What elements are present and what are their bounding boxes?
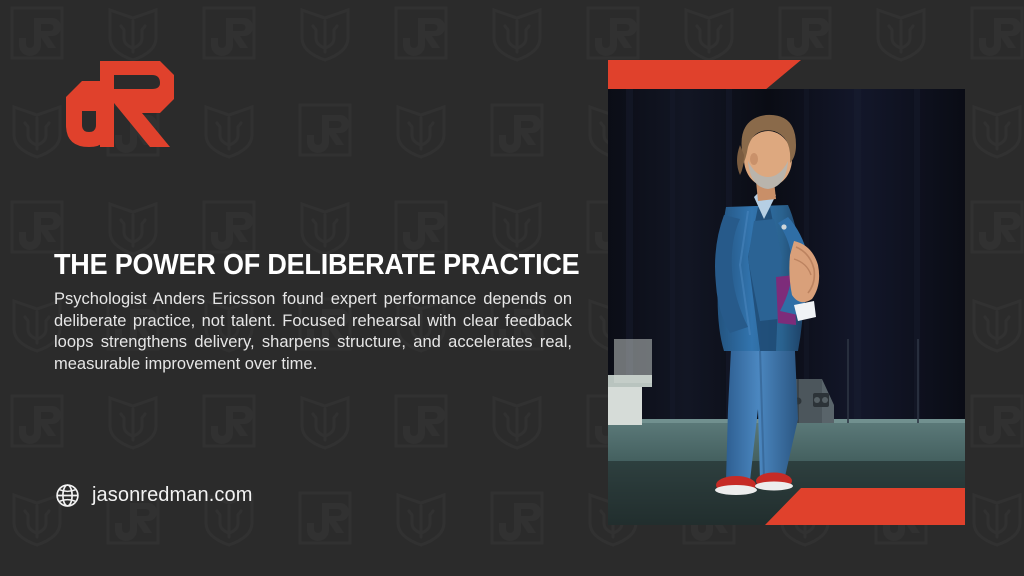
website-link[interactable]: jasonredman.com	[55, 483, 252, 508]
jr-monogram-logo	[56, 55, 181, 150]
globe-icon	[55, 483, 80, 508]
text-block: THE POWER OF DELIBERATE PRACTICE Psychol…	[54, 250, 574, 375]
accent-bar-top-left	[608, 60, 801, 89]
slide-root: THE POWER OF DELIBERATE PRACTICE Psychol…	[0, 0, 1024, 576]
body-paragraph: Psychologist Anders Ericsson found exper…	[54, 289, 572, 375]
speaker-photo	[608, 89, 965, 525]
page-title: THE POWER OF DELIBERATE PRACTICE	[54, 250, 538, 280]
website-url-text: jasonredman.com	[92, 484, 252, 507]
photo-assembly	[608, 60, 965, 525]
